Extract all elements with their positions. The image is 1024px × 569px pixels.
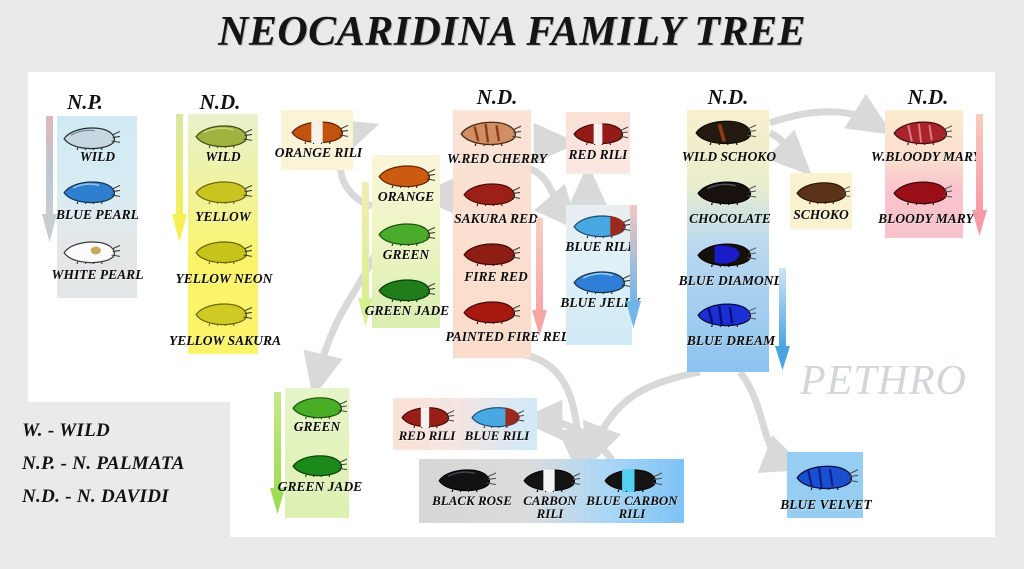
shrimp-blue-velvet [790,462,858,490]
label-red-rili-bottom: RED RILI [390,429,464,442]
shrimp-green-jade-bottom [287,452,347,477]
legend-item-wild: W. - WILD [22,420,252,442]
shrimp-fire-red [458,240,520,266]
gradient-arrow-palmata [42,116,58,244]
gradient-arrow-blue [626,205,642,330]
legend-item-davidi: N.D. - N. DAVIDI [22,486,252,508]
label-wild-palmata: WILD [40,150,155,164]
label-blue-pearl: BLUE PEARL [30,208,165,222]
shrimp-yellow [190,178,252,204]
shrimp-wild-palmata [58,124,120,150]
label-w-bloody-mary: W.BLOODY MARY [864,150,988,164]
label-blue-dream: BLUE DREAM [672,334,790,348]
shrimp-wild-schoko [690,117,756,145]
shrimp-orange-rili [286,118,348,144]
shrimp-carbon-rili [518,466,580,492]
gradient-arrow-yellow [172,114,188,244]
shrimp-orange [373,162,435,188]
label-white-pearl: WHITE PEARL [25,268,170,282]
gradient-arrow-red [532,218,548,338]
shrimp-black-rose [432,466,496,492]
shrimp-w-bloody-mary [888,118,952,145]
shrimp-yellow-neon [190,238,252,264]
header-np: N.P. [45,90,125,115]
header-nd-red: N.D. [457,85,537,110]
label-blue-rili-bottom: BLUE RILI [458,429,536,442]
gradient-arrow-mary [972,114,988,238]
shrimp-green-bottom [287,394,347,419]
label-chocolate: CHOCOLATE [678,212,782,226]
shrimp-bloody-mary [888,178,952,205]
shrimp-red-rili [568,120,628,145]
label-yellow: YELLOW [168,210,278,224]
label-fire-red: FIRE RED [448,270,544,284]
label-wild-davidi: WILD [173,150,273,164]
gradient-arrow-green-bottom [270,392,286,516]
label-wild-schoko: WILD SCHOKO [674,150,784,164]
label-green: GREEN [362,248,450,262]
label-yellow-sakura: YELLOW SAKURA [155,334,295,348]
shrimp-blue-carbon-rili [598,466,662,492]
label-w-red-cherry: W.RED CHERRY [437,152,557,166]
shrimp-chocolate [692,178,756,205]
shrimp-yellow-sakura [190,300,252,326]
label-blue-carbon-rili: BLUE CARBON RILI [582,494,682,521]
shrimp-blue-dream [692,300,756,327]
header-nd-mary: N.D. [888,85,968,110]
shrimp-wild-davidi [190,122,252,148]
label-green-jade-bottom: GREEN JADE [265,480,375,494]
label-black-rose: BLACK ROSE [424,494,520,507]
label-green-bottom: GREEN [273,420,361,434]
label-painted-fire-red: PAINTED FIRE RED [428,330,588,344]
shrimp-blue-pearl [58,178,120,204]
legend: W. - WILD N.P. - N. PALMATA N.D. - N. DA… [22,420,252,519]
label-schoko: SCHOKO [786,208,856,222]
shrimp-red-rili-bottom [396,404,454,428]
label-green-jade: GREEN JADE [352,304,462,318]
header-nd-schoko: N.D. [688,85,768,110]
shrimp-blue-diamond [692,240,756,267]
shrimp-schoko [792,179,850,204]
header-nd-yellow: N.D. [180,90,260,115]
label-red-rili: RED RILI [558,148,638,162]
label-carbon-rili: CARBON RILI [516,494,584,521]
shrimp-blue-rili [568,212,630,238]
label-orange-rili: ORANGE RILI [271,146,366,160]
gradient-arrow-schoko [775,268,791,372]
label-yellow-neon: YELLOW NEON [158,272,290,286]
shrimp-white-pearl [58,238,120,264]
shrimp-blue-jelly [568,268,630,294]
legend-item-palmata: N.P. - N. PALMATA [22,453,252,475]
shrimp-painted-fire-red [458,298,520,324]
shrimp-blue-rili-bottom [466,404,524,428]
label-bloody-mary: BLOODY MARY [868,212,984,226]
shrimp-green-jade [373,276,435,302]
label-blue-velvet: BLUE VELVET [778,498,874,512]
label-orange: ORANGE [360,190,452,204]
shrimp-green [373,220,435,246]
watermark-pethro: PETHRO [800,357,967,405]
shrimp-sakura-red [458,180,520,206]
shrimp-w-red-cherry [455,118,521,146]
